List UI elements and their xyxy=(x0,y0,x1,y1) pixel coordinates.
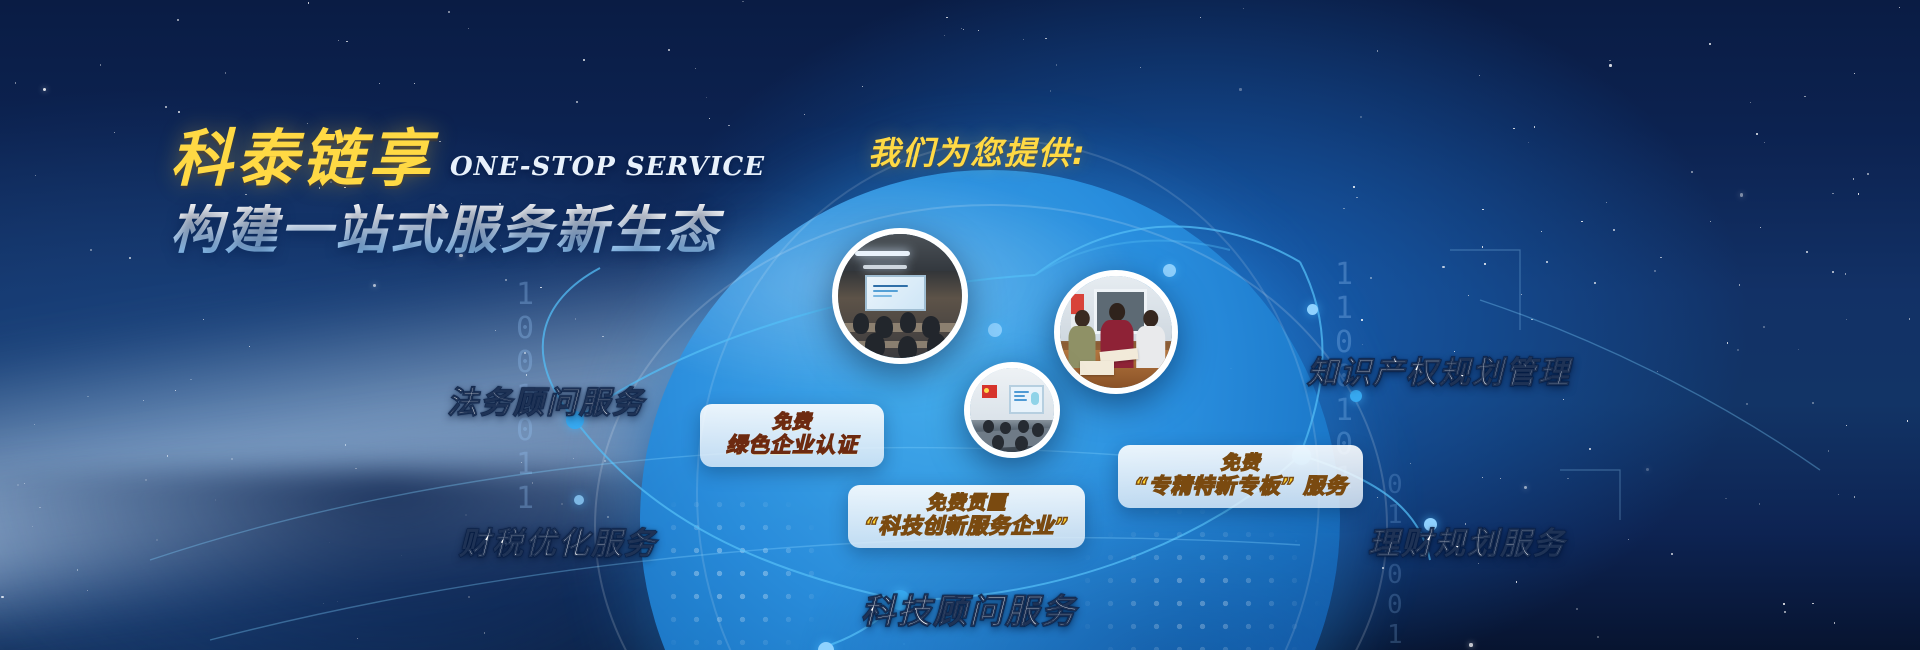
star-speck xyxy=(1654,270,1655,271)
star-speck xyxy=(1362,344,1363,345)
star-speck xyxy=(34,424,35,425)
star-speck xyxy=(561,503,563,505)
star-speck xyxy=(1812,603,1813,604)
badge-line2: “专精特新专板” 服务 xyxy=(1134,474,1347,499)
star-speck xyxy=(1691,171,1693,173)
star-speck xyxy=(346,41,347,42)
star-speck xyxy=(249,346,250,347)
star-speck xyxy=(961,28,962,29)
star-speck xyxy=(1804,96,1805,97)
network-node-small xyxy=(818,642,834,650)
star-speck xyxy=(1468,295,1469,296)
star-speck xyxy=(1764,142,1765,143)
network-node-small xyxy=(988,323,1002,337)
star-speck xyxy=(583,59,585,61)
star-speck xyxy=(668,49,670,51)
star-speck xyxy=(143,400,144,401)
star-speck xyxy=(1710,221,1711,222)
star-speck xyxy=(1546,261,1547,262)
star-speck xyxy=(1230,368,1231,369)
star-speck xyxy=(604,460,606,462)
star-speck xyxy=(1760,227,1761,228)
star-speck xyxy=(35,175,36,176)
star-speck xyxy=(215,499,216,500)
star-speck xyxy=(946,17,947,18)
lead-in-text: 我们为您提供: xyxy=(868,128,1087,174)
star-speck xyxy=(1541,231,1542,232)
star-speck xyxy=(1482,477,1483,478)
star-speck xyxy=(379,83,380,84)
star-speck xyxy=(1516,581,1517,582)
photo-small-meeting-image xyxy=(970,368,1054,452)
badge-line2: 绿色企业认证 xyxy=(716,433,868,458)
photo-lecture-hall xyxy=(832,228,968,364)
star-speck xyxy=(602,336,603,337)
star-speck xyxy=(1854,496,1855,497)
badge-tech-innovation[interactable]: 免费贯匾 “科技创新服务企业” xyxy=(848,485,1085,548)
star-speck xyxy=(308,2,309,3)
star-speck xyxy=(695,68,696,69)
star-speck xyxy=(129,257,131,259)
star-speck xyxy=(1867,173,1869,175)
star-speck xyxy=(337,601,338,602)
star-speck xyxy=(1832,193,1833,194)
star-speck xyxy=(1576,608,1578,610)
star-speck xyxy=(1056,64,1057,65)
star-speck xyxy=(1528,142,1529,143)
photo-office-meeting-image xyxy=(1060,276,1172,388)
star-speck xyxy=(1832,271,1834,273)
star-speck xyxy=(87,590,88,591)
star-speck xyxy=(177,19,178,20)
star-speck xyxy=(24,483,25,484)
star-speck xyxy=(1725,498,1726,499)
network-node-small xyxy=(1307,304,1318,315)
star-speck xyxy=(1609,60,1610,61)
star-speck xyxy=(1,596,3,598)
star-speck xyxy=(323,603,324,604)
star-speck xyxy=(15,82,16,83)
star-speck xyxy=(1295,540,1296,541)
star-speck xyxy=(1482,209,1483,210)
star-speck xyxy=(190,379,191,380)
star-speck xyxy=(1597,636,1599,638)
star-speck xyxy=(540,287,541,288)
star-speck xyxy=(1140,67,1141,68)
star-speck xyxy=(1784,611,1785,612)
star-speck xyxy=(1746,403,1747,404)
photo-office-meeting xyxy=(1054,270,1178,394)
star-speck xyxy=(1646,468,1649,471)
star-speck xyxy=(1343,208,1344,209)
star-speck xyxy=(1783,603,1784,604)
star-speck xyxy=(1589,448,1590,449)
star-speck xyxy=(1798,349,1799,350)
star-speck xyxy=(1899,7,1900,8)
star-speck xyxy=(1370,277,1371,278)
star-speck xyxy=(1759,503,1760,504)
star-speck xyxy=(742,1,743,2)
star-speck xyxy=(1377,50,1378,51)
star-speck xyxy=(401,555,402,556)
star-speck xyxy=(1812,402,1814,404)
star-speck xyxy=(87,396,88,397)
star-speck xyxy=(1513,128,1514,129)
star-speck xyxy=(1382,567,1384,569)
star-speck xyxy=(1045,38,1046,39)
star-speck xyxy=(203,319,204,320)
star-speck xyxy=(1750,102,1751,103)
star-speck xyxy=(762,277,763,278)
star-speck xyxy=(1828,450,1829,451)
star-speck xyxy=(1531,319,1532,320)
star-speck xyxy=(1740,193,1743,196)
star-speck xyxy=(1709,43,1711,45)
star-speck xyxy=(1377,497,1378,498)
star-speck xyxy=(1469,643,1472,646)
star-speck xyxy=(448,11,450,13)
star-speck xyxy=(1763,326,1765,328)
star-speck xyxy=(100,64,101,65)
star-speck xyxy=(706,97,707,98)
star-speck xyxy=(1410,463,1411,464)
star-speck xyxy=(1594,282,1596,284)
star-speck xyxy=(1581,221,1582,222)
star-speck xyxy=(862,86,863,87)
star-speck xyxy=(414,83,415,84)
star-speck xyxy=(1657,371,1658,372)
star-speck xyxy=(978,30,979,31)
star-speck xyxy=(39,507,40,508)
badge-line2: “科技创新服务企业” xyxy=(864,514,1069,539)
star-speck xyxy=(1534,126,1535,127)
star-speck xyxy=(1478,563,1479,564)
star-speck xyxy=(709,118,710,119)
star-speck xyxy=(156,539,157,540)
star-speck xyxy=(484,632,485,633)
star-speck xyxy=(1834,622,1835,623)
service-label-wealth[interactable]: 理财规划服务 xyxy=(1368,518,1566,563)
star-speck xyxy=(1567,478,1568,479)
star-speck xyxy=(1727,342,1728,343)
star-speck xyxy=(1563,399,1564,400)
star-speck xyxy=(573,458,574,459)
star-speck xyxy=(1361,319,1362,320)
star-speck xyxy=(1838,494,1839,495)
star-speck xyxy=(1909,318,1910,319)
badge-line1: 免费贯匾 xyxy=(864,492,1069,514)
star-speck xyxy=(1845,273,1846,274)
star-speck xyxy=(1671,553,1673,555)
star-speck xyxy=(114,132,115,133)
star-speck xyxy=(1613,229,1615,231)
star-speck xyxy=(1606,202,1607,203)
photo-small-meeting xyxy=(964,362,1060,458)
star-speck xyxy=(1853,178,1854,179)
star-speck xyxy=(1660,257,1661,258)
star-speck xyxy=(526,374,527,375)
star-speck xyxy=(225,72,226,73)
star-speck xyxy=(728,125,729,126)
star-speck xyxy=(524,352,526,354)
star-speck xyxy=(90,249,92,251)
star-speck xyxy=(1854,73,1855,74)
star-speck xyxy=(1521,294,1522,295)
badge-line1: 免费 xyxy=(1134,452,1347,474)
star-speck xyxy=(1846,319,1847,320)
brand-subtitle-en: ONE-STOP SERVICE xyxy=(450,152,765,190)
star-speck xyxy=(1482,246,1483,247)
star-speck xyxy=(521,462,522,463)
star-speck xyxy=(345,444,346,445)
star-speck xyxy=(576,101,577,102)
star-speck xyxy=(1609,64,1611,66)
star-speck xyxy=(145,479,146,480)
star-speck xyxy=(329,542,330,543)
hero-banner: 1 0 0 1 0 1 1 1 1 0 0 1 0 1 0 1 1 0 0 1 xyxy=(0,0,1920,650)
star-speck xyxy=(963,29,964,30)
star-speck xyxy=(1356,197,1357,198)
star-speck xyxy=(1243,8,1244,9)
badge-green-enterprise[interactable]: 免费 绿色企业认证 xyxy=(700,404,884,467)
star-speck xyxy=(468,28,469,29)
star-speck xyxy=(178,111,180,113)
star-speck xyxy=(1360,116,1362,118)
star-speck xyxy=(1806,251,1807,252)
star-speck xyxy=(165,106,166,107)
star-speck xyxy=(17,484,19,486)
service-label-ip[interactable]: 知识产权规划管理 xyxy=(1307,347,1571,392)
star-speck xyxy=(468,596,470,598)
star-speck xyxy=(1239,88,1241,90)
star-speck xyxy=(357,638,358,639)
star-speck xyxy=(1023,39,1024,40)
badge-line1: 免费 xyxy=(716,411,868,433)
network-node-small xyxy=(574,495,584,505)
star-speck xyxy=(373,284,376,287)
star-speck xyxy=(338,40,339,41)
star-speck xyxy=(167,455,168,456)
star-speck xyxy=(575,318,576,319)
star-speck xyxy=(1479,75,1480,76)
star-speck xyxy=(1050,90,1051,91)
star-speck xyxy=(532,482,533,483)
star-speck xyxy=(175,390,176,391)
star-speck xyxy=(1737,349,1739,351)
star-speck xyxy=(1353,186,1354,187)
earth-limb-shadow xyxy=(0,470,840,650)
star-speck xyxy=(1907,420,1908,421)
star-speck xyxy=(1858,193,1859,194)
star-speck xyxy=(1442,266,1444,268)
star-speck xyxy=(1484,263,1485,264)
star-speck xyxy=(505,279,506,280)
service-label-tax[interactable]: 财税优化服务 xyxy=(459,518,657,563)
star-speck xyxy=(231,458,233,460)
star-speck xyxy=(355,468,356,469)
star-speck xyxy=(1524,486,1527,489)
service-label-tech[interactable]: 科技顾问服务 xyxy=(861,584,1077,633)
star-speck xyxy=(1500,478,1501,479)
star-speck xyxy=(1628,539,1629,540)
star-speck xyxy=(1756,133,1758,135)
star-speck xyxy=(1846,425,1847,426)
photo-lecture-hall-image xyxy=(838,234,962,358)
star-speck xyxy=(1200,17,1201,18)
service-label-legal[interactable]: 法务顾问服务 xyxy=(447,377,645,422)
star-speck xyxy=(43,88,46,91)
page-tagline: 构建一站式服务新生态 xyxy=(170,204,765,259)
star-speck xyxy=(903,643,905,645)
headline-block: 科泰链享 ONE-STOP SERVICE 构建一站式服务新生态 xyxy=(170,128,765,259)
brand-title: 科泰链享 xyxy=(170,128,434,190)
star-speck xyxy=(1739,284,1740,285)
star-speck xyxy=(495,330,496,331)
star-speck xyxy=(944,35,945,36)
star-speck xyxy=(465,514,467,516)
badge-specialized-board[interactable]: 免费 “专精特新专板” 服务 xyxy=(1118,445,1363,508)
star-speck xyxy=(77,569,78,570)
star-speck xyxy=(32,526,33,527)
star-speck xyxy=(804,114,805,115)
